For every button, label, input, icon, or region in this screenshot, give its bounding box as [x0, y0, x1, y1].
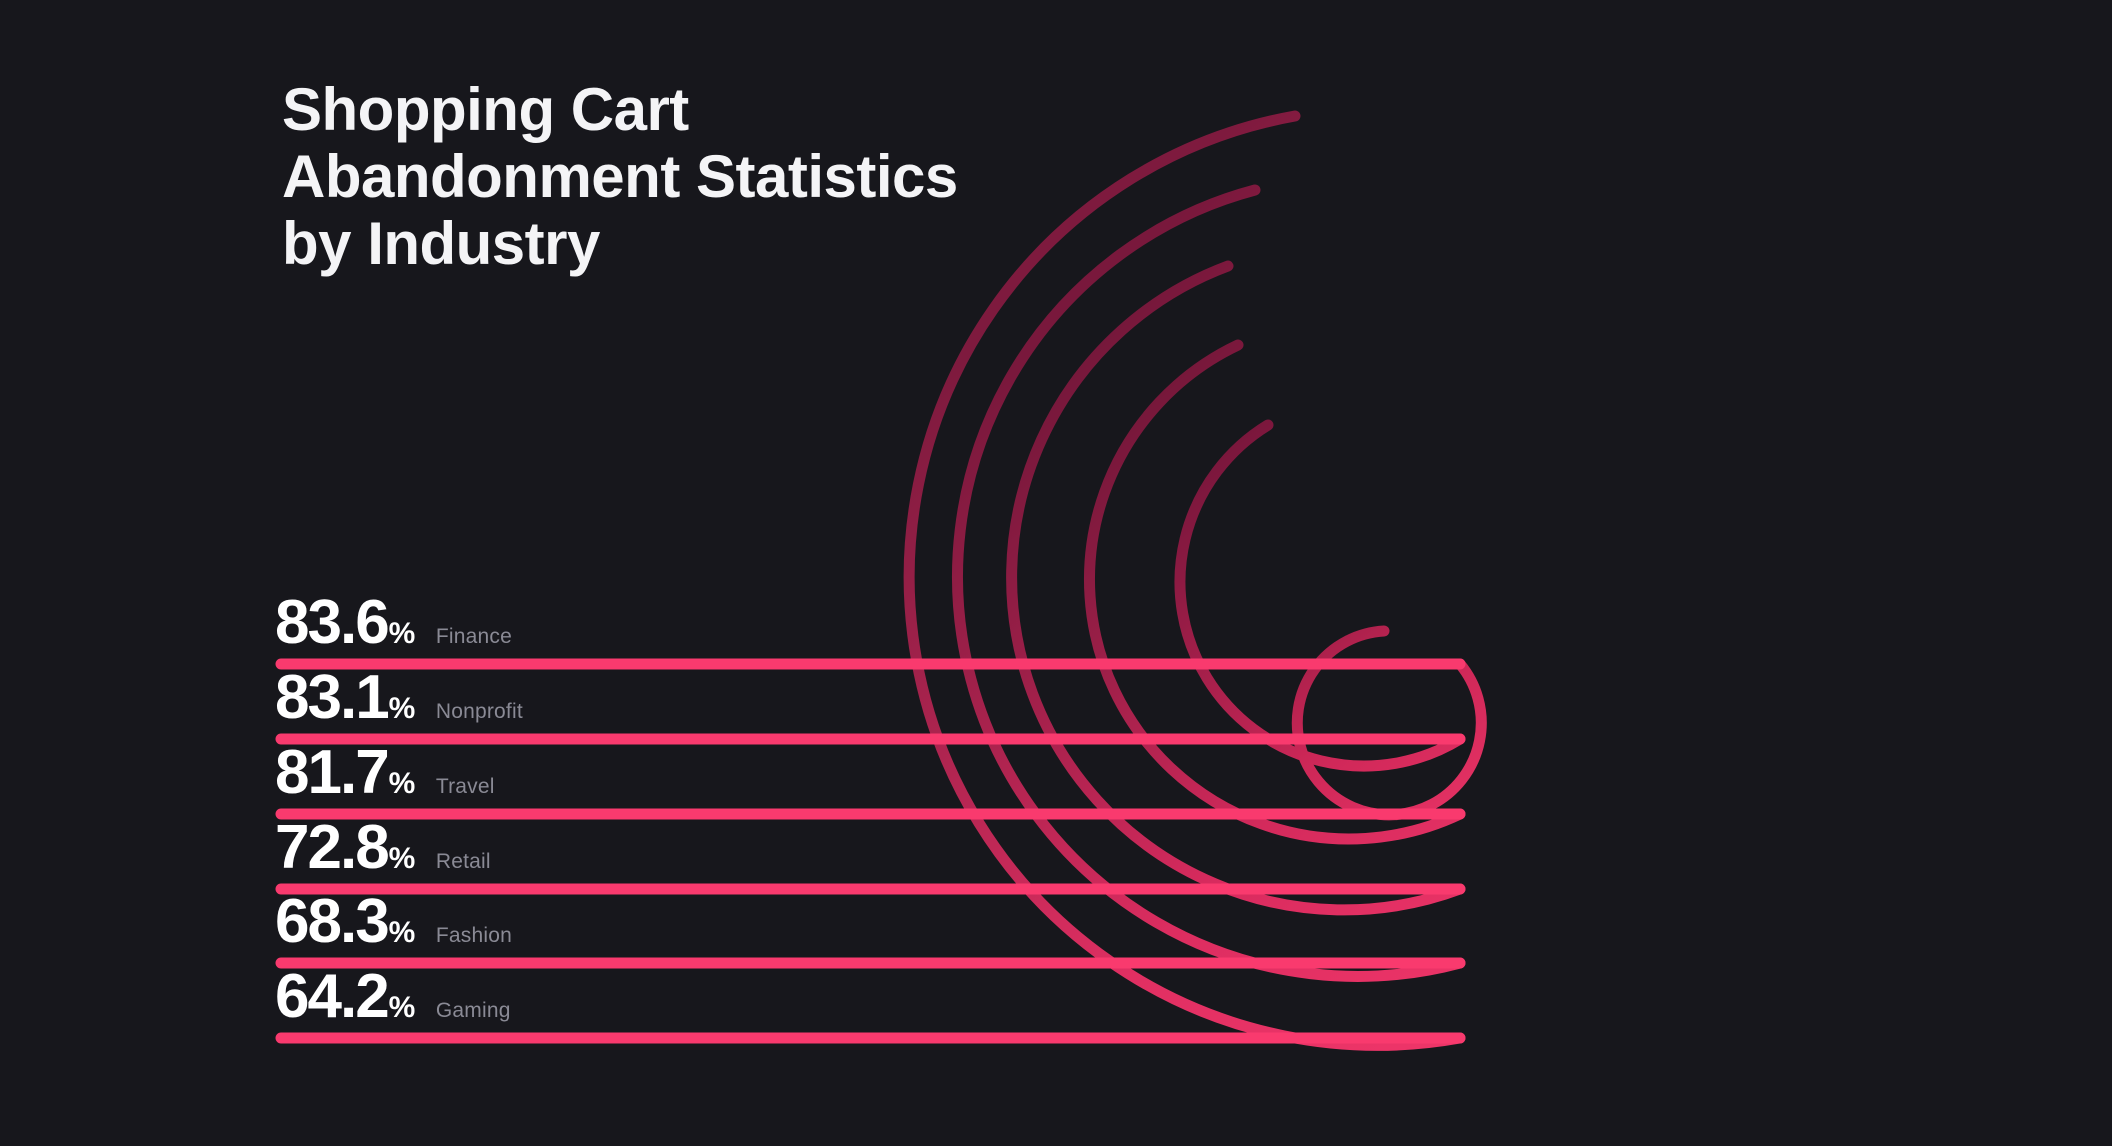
stat-value-retail: 72.8	[275, 818, 388, 879]
stat-percent-sign-retail: %	[389, 842, 415, 876]
stat-text-finance: 83.6 % Finance	[275, 593, 512, 654]
stat-percent-sign-nonprofit: %	[389, 692, 415, 726]
stat-text-fashion: 68.3 % Fashion	[275, 892, 512, 953]
stat-value-finance: 83.6	[275, 593, 388, 654]
stat-value-fashion: 68.3	[275, 892, 388, 953]
stat-industry-travel: Travel	[436, 775, 495, 799]
stat-percent-sign-gaming: %	[389, 991, 415, 1025]
stat-text-gaming: 64.2 % Gaming	[275, 967, 511, 1028]
stat-industry-retail: Retail	[436, 850, 491, 874]
statistics-list: 83.6 % Finance 83.1 % Nonprofit 81.7 % T…	[0, 0, 2112, 1146]
stat-text-travel: 81.7 % Travel	[275, 743, 495, 804]
stat-value-travel: 81.7	[275, 743, 388, 804]
stat-industry-fashion: Fashion	[436, 924, 512, 948]
stat-industry-gaming: Gaming	[436, 999, 511, 1023]
stat-text-retail: 72.8 % Retail	[275, 818, 491, 879]
stat-percent-sign-fashion: %	[389, 916, 415, 950]
stat-industry-finance: Finance	[436, 625, 512, 649]
stat-percent-sign-travel: %	[389, 767, 415, 801]
stat-value-gaming: 64.2	[275, 967, 388, 1028]
stat-industry-nonprofit: Nonprofit	[436, 700, 523, 724]
stat-value-nonprofit: 83.1	[275, 668, 388, 729]
stat-text-nonprofit: 83.1 % Nonprofit	[275, 668, 523, 729]
infographic-canvas: Shopping Cart Abandonment Statistics by …	[0, 0, 2112, 1146]
stat-percent-sign-finance: %	[389, 617, 415, 651]
